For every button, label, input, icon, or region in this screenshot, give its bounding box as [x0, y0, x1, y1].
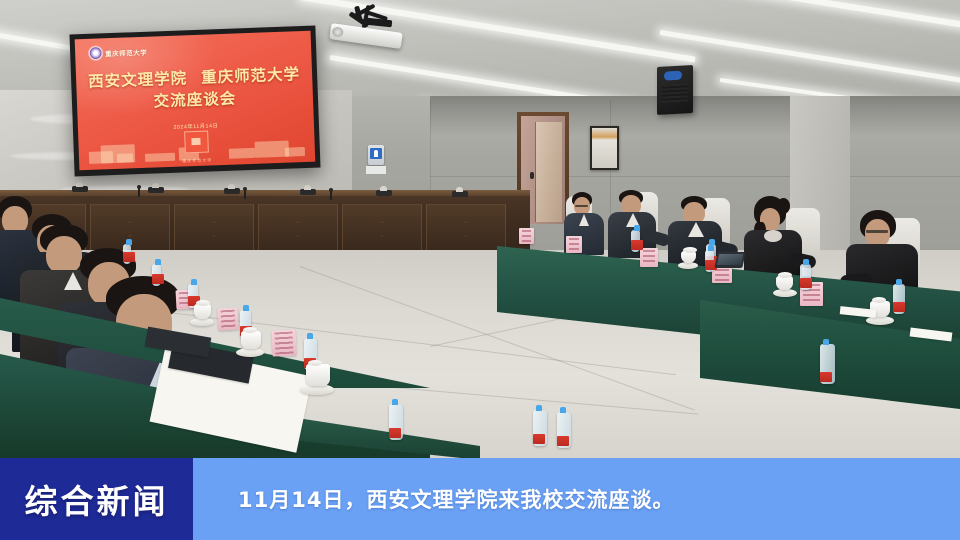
wall-lamp — [72, 186, 88, 192]
floor-water-bottle — [557, 412, 571, 448]
wall-shadow — [430, 96, 960, 136]
wall-lamp — [452, 191, 468, 197]
speaker-badge — [664, 71, 682, 81]
news-photo-card: 重庆师范大学 西安文理学院重庆师范大学 交流座谈会 2024年11月14日 — [0, 0, 960, 540]
caption-text-area: 11月14日，西安文理学院来我校交流座谈。 — [193, 458, 960, 540]
speaker-grille — [662, 83, 688, 102]
news-category-label: 综合新闻 — [25, 475, 169, 523]
water-bottle — [631, 230, 640, 252]
blue-wall-sign — [368, 145, 384, 165]
saucer — [190, 318, 214, 326]
ceiling-light-strip — [700, 0, 960, 38]
water-bottle — [152, 264, 161, 286]
name-plate — [217, 307, 238, 330]
slide-logo: 重庆师范大学 — [89, 45, 147, 60]
sign-plate — [366, 166, 386, 174]
ceiling-light-strip — [660, 30, 960, 88]
slide-title-right: 重庆师范大学 — [201, 66, 301, 87]
microphone — [330, 191, 332, 200]
projection-screen: 重庆师范大学 西安文理学院重庆师范大学 交流座谈会 2024年11月14日 — [69, 26, 320, 177]
name-plate — [519, 228, 534, 244]
door-panel — [535, 122, 562, 222]
news-category-badge[interactable]: 综合新闻 — [0, 458, 193, 540]
floor-water-bottle — [533, 410, 547, 446]
saucer — [678, 262, 698, 269]
water-bottle — [123, 244, 131, 264]
name-plate — [271, 329, 296, 356]
wall-speaker — [657, 65, 693, 115]
meeting-room-photograph: 重庆师范大学 西安文理学院重庆师范大学 交流座谈会 2024年11月14日 — [0, 0, 960, 458]
university-emblem-icon — [89, 46, 102, 59]
water-bottle — [800, 264, 811, 290]
teacup — [306, 364, 330, 386]
name-plate — [640, 248, 658, 267]
teacup — [194, 304, 211, 319]
slide-landmark-icon — [184, 131, 209, 154]
saucer — [773, 289, 797, 297]
teacup — [241, 331, 261, 349]
wall-lamp — [224, 188, 240, 194]
slide-subtitle: 交流座谈会 — [153, 90, 236, 110]
microphone — [244, 190, 246, 199]
floor-water-bottle — [820, 344, 835, 384]
water-bottle — [705, 250, 714, 272]
wall-lamp — [300, 189, 316, 195]
laptop — [714, 252, 745, 268]
saucer — [236, 348, 264, 357]
floor-water-bottle — [389, 404, 403, 440]
wall-seam — [430, 176, 960, 177]
slide-content: 重庆师范大学 西安文理学院重庆师范大学 交流座谈会 2024年11月14日 — [75, 31, 316, 171]
slide-logo-text: 重庆师范大学 — [105, 46, 147, 58]
caption-bar: 综合新闻 11月14日，西安文理学院来我校交流座谈。 — [0, 458, 960, 540]
name-plate — [566, 236, 582, 253]
teacup — [776, 276, 793, 290]
slide-title: 西安文理学院重庆师范大学 交流座谈会 — [76, 64, 313, 117]
slide-title-left: 西安文理学院 — [88, 70, 188, 91]
caption-text: 11月14日，西安文理学院来我校交流座谈。 — [193, 484, 674, 514]
wall-lamp — [376, 190, 392, 196]
wall-lamp — [148, 187, 164, 193]
water-bottle — [893, 284, 905, 314]
door-knob[interactable] — [530, 172, 534, 179]
microphone — [138, 188, 140, 197]
wall-plaque — [590, 126, 619, 170]
projector-lens — [332, 26, 344, 37]
